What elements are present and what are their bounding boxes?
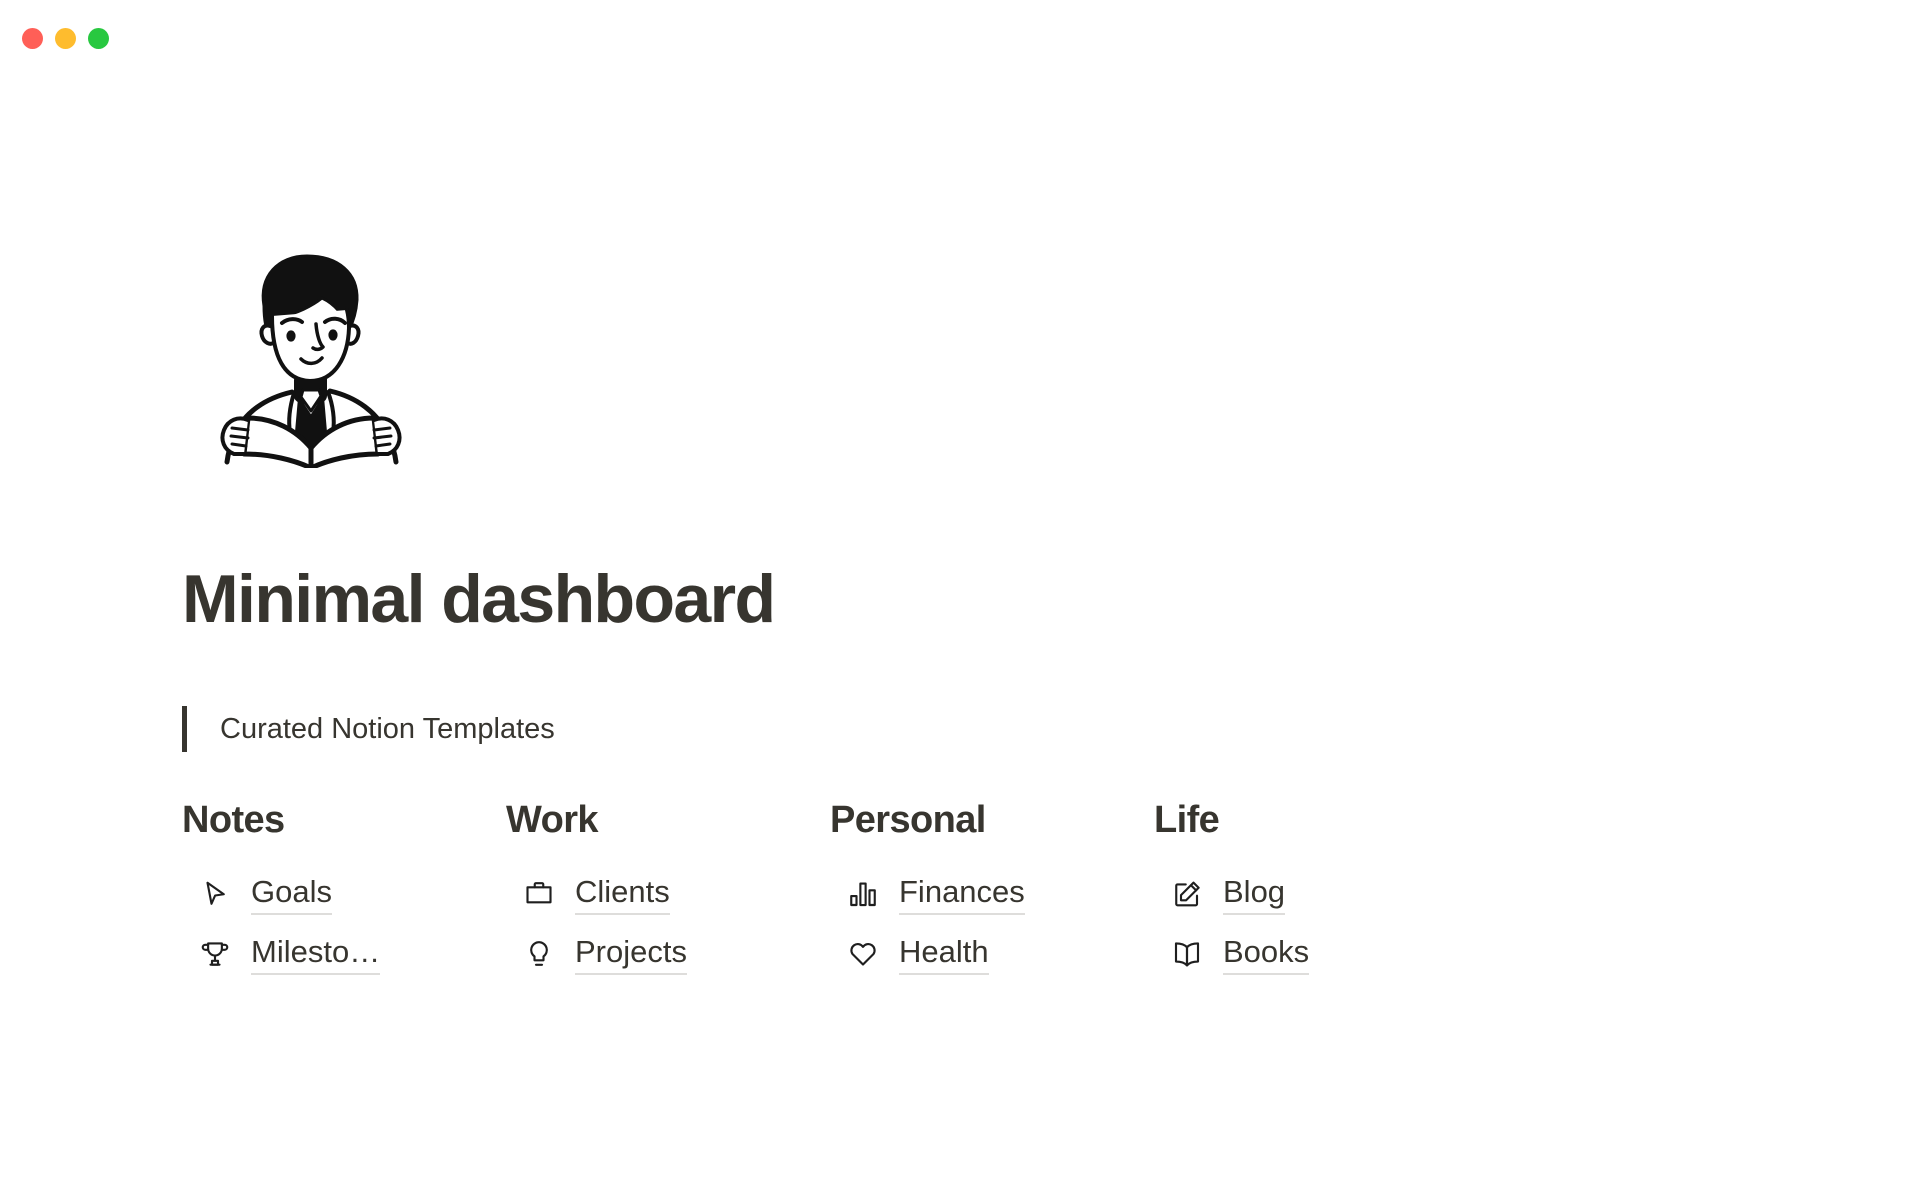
page-title: Minimal dashboard [182,558,774,640]
link-label-clients[interactable]: Clients [575,874,670,915]
hero-illustration [204,240,418,468]
link-row-books[interactable]: Books [1154,924,1478,984]
column-work: Work Clients [506,796,830,984]
link-row-blog[interactable]: Blog [1154,864,1478,924]
zoom-window-button[interactable] [88,28,109,49]
link-label-books[interactable]: Books [1223,934,1309,975]
cursor-arrow-icon [198,877,232,911]
briefcase-icon [522,877,556,911]
link-label-goals[interactable]: Goals [251,874,332,915]
traffic-light-group [22,28,109,49]
trophy-icon [198,937,232,971]
link-row-projects[interactable]: Projects [506,924,830,984]
column-title-notes: Notes [182,796,506,844]
link-label-finances[interactable]: Finances [899,874,1025,915]
minimize-window-button[interactable] [55,28,76,49]
page-body: Minimal dashboard Curated Notion Templat… [0,62,1920,1200]
open-book-icon [1170,937,1204,971]
column-notes: Notes Goals [182,796,506,984]
quote-block: Curated Notion Templates [182,704,555,754]
link-label-blog[interactable]: Blog [1223,874,1285,915]
lightbulb-icon [522,937,556,971]
link-row-goals[interactable]: Goals [182,864,506,924]
app-window: Minimal dashboard Curated Notion Templat… [0,0,1920,1200]
close-window-button[interactable] [22,28,43,49]
column-life: Life Blog [1154,796,1478,984]
quote-text: Curated Notion Templates [220,709,555,749]
link-columns: Notes Goals [182,796,1612,984]
quote-bar [182,706,187,752]
column-title-life: Life [1154,796,1478,844]
link-label-projects[interactable]: Projects [575,934,687,975]
bar-chart-icon [846,877,880,911]
link-label-milestones[interactable]: Milesto… [251,934,380,975]
link-label-health[interactable]: Health [899,934,989,975]
column-title-personal: Personal [830,796,1154,844]
pencil-square-icon [1170,877,1204,911]
link-row-finances[interactable]: Finances [830,864,1154,924]
heart-icon [846,937,880,971]
column-personal: Personal Finances [830,796,1154,984]
window-titlebar [0,0,1920,62]
link-row-milestones[interactable]: Milesto… [182,924,506,984]
link-row-clients[interactable]: Clients [506,864,830,924]
link-row-health[interactable]: Health [830,924,1154,984]
column-title-work: Work [506,796,830,844]
